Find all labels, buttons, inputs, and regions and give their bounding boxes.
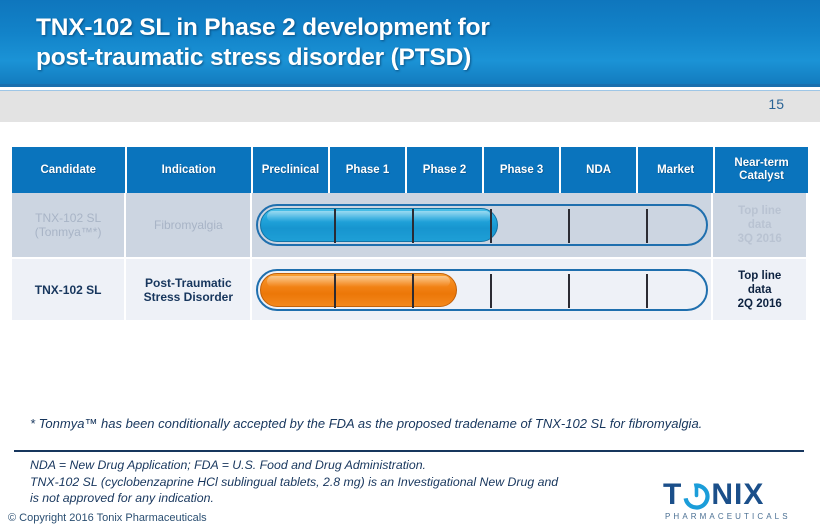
row-catalyst: Top line data 2Q 2016: [713, 259, 806, 320]
logo-wordmark: T NIX: [663, 480, 811, 510]
row-indication: Fibromyalgia: [126, 193, 250, 257]
progress-track-zone: [252, 193, 711, 257]
slide: TNX-102 SL in Phase 2 development for po…: [0, 0, 820, 531]
abbreviations-footnote: NDA = New Drug Application; FDA = U.S. F…: [30, 457, 650, 507]
progress-track-zone: [252, 259, 711, 320]
column-header-catalyst: Near-term Catalyst: [715, 147, 808, 193]
progress-fill-ptsd: [260, 273, 457, 307]
stage-divider-phase1-phase2: [412, 274, 414, 308]
column-header-nda: NDA: [561, 147, 636, 193]
page-number: 15: [768, 96, 784, 112]
progress-fill-fibromyalgia: [260, 208, 498, 242]
row-catalyst: Top line data 3Q 2016: [713, 193, 806, 257]
progress-track: [256, 269, 708, 311]
stage-divider-nda-market: [646, 209, 648, 243]
tonix-logo: T NIX PHARMACEUTICALS: [663, 480, 811, 526]
trademark-footnote: * Tonmya™ has been conditionally accepte…: [30, 415, 800, 432]
pipeline-table: Candidate Indication Preclinical Phase 1…: [12, 147, 808, 320]
stage-divider-preclinical-phase1: [334, 274, 336, 308]
logo-letter-t: T: [663, 480, 682, 510]
table-row: TNX-102 SL Post-Traumatic Stress Disorde…: [12, 259, 808, 320]
row-candidate: TNX-102 SL: [12, 259, 124, 320]
stage-divider-phase2-phase3: [490, 274, 492, 308]
logo-letters-nix: NIX: [711, 480, 764, 510]
table-header-row: Candidate Indication Preclinical Phase 1…: [12, 147, 808, 193]
row-candidate: TNX-102 SL (Tonmya™*): [12, 193, 124, 257]
stage-divider-phase2-phase3: [490, 209, 492, 243]
stage-divider-nda-market: [646, 274, 648, 308]
progress-track: [256, 204, 708, 246]
column-header-candidate: Candidate: [12, 147, 125, 193]
title-banner: TNX-102 SL in Phase 2 development for po…: [0, 0, 820, 87]
page-title: TNX-102 SL in Phase 2 development for po…: [36, 13, 736, 73]
stage-divider-phase1-phase2: [412, 209, 414, 243]
column-header-market: Market: [638, 147, 713, 193]
table-row: TNX-102 SL (Tonmya™*) Fibromyalgia Top l…: [12, 193, 808, 257]
stage-divider-phase3-nda: [568, 274, 570, 308]
stage-divider-preclinical-phase1: [334, 209, 336, 243]
column-header-preclinical: Preclinical: [253, 147, 328, 193]
copyright-text: © Copyright 2016 Tonix Pharmaceuticals: [8, 512, 207, 524]
column-header-phase1: Phase 1: [330, 147, 405, 193]
logo-tagline: PHARMACEUTICALS: [663, 512, 811, 521]
power-ring-icon: [683, 482, 710, 509]
footnote-divider: [14, 450, 804, 452]
column-header-phase2: Phase 2: [407, 147, 482, 193]
row-indication: Post-Traumatic Stress Disorder: [126, 259, 250, 320]
sub-header-band: [0, 90, 820, 122]
stage-divider-phase3-nda: [568, 209, 570, 243]
column-header-phase3: Phase 3: [484, 147, 559, 193]
column-header-indication: Indication: [127, 147, 251, 193]
